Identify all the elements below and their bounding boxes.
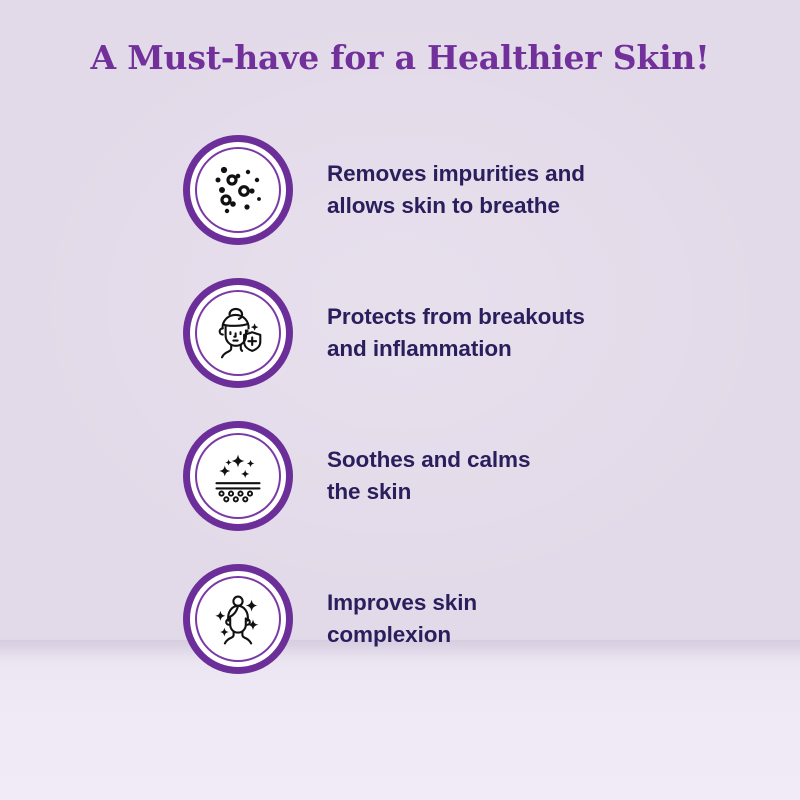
- page-title: A Must-have for a Healthier Skin!: [0, 38, 800, 77]
- sparkles-skin-surface-icon: [207, 445, 269, 507]
- benefit-icon-badge-2: [183, 278, 293, 388]
- benefit-text-2: Protects from breakouts and inflammation: [327, 301, 585, 365]
- benefit-icon-badge-1: [183, 135, 293, 245]
- benefit-text-3-line1: Soothes and calms: [327, 447, 530, 472]
- benefit-text-4-line1: Improves skin: [327, 590, 477, 615]
- glowing-face-sparkles-icon: [207, 588, 269, 650]
- pores-dots-icon: [207, 159, 269, 221]
- face-shield-protection-icon: [207, 302, 269, 364]
- benefit-row-improves-complexion: Improves skin complexion: [0, 547, 800, 690]
- benefits-infographic: A Must-have for a Healthier Skin!: [0, 0, 800, 800]
- benefit-text-3: Soothes and calms the skin: [327, 444, 530, 508]
- benefit-icon-badge-3: [183, 421, 293, 531]
- benefit-row-soothes-calms: Soothes and calms the skin: [0, 404, 800, 547]
- benefit-text-3-line2: the skin: [327, 479, 411, 504]
- benefit-text-1-line2: allows skin to breathe: [327, 193, 560, 218]
- benefit-text-1: Removes impurities and allows skin to br…: [327, 158, 585, 222]
- benefit-row-protects-breakouts: Protects from breakouts and inflammation: [0, 261, 800, 404]
- benefit-text-2-line2: and inflammation: [327, 336, 512, 361]
- benefit-icon-badge-4: [183, 564, 293, 674]
- benefit-text-4: Improves skin complexion: [327, 587, 477, 651]
- benefit-text-1-line1: Removes impurities and: [327, 161, 585, 186]
- benefit-row-removes-impurities: Removes impurities and allows skin to br…: [0, 118, 800, 261]
- benefit-text-4-line2: complexion: [327, 622, 451, 647]
- benefit-text-2-line1: Protects from breakouts: [327, 304, 585, 329]
- benefits-list: Removes impurities and allows skin to br…: [0, 118, 800, 690]
